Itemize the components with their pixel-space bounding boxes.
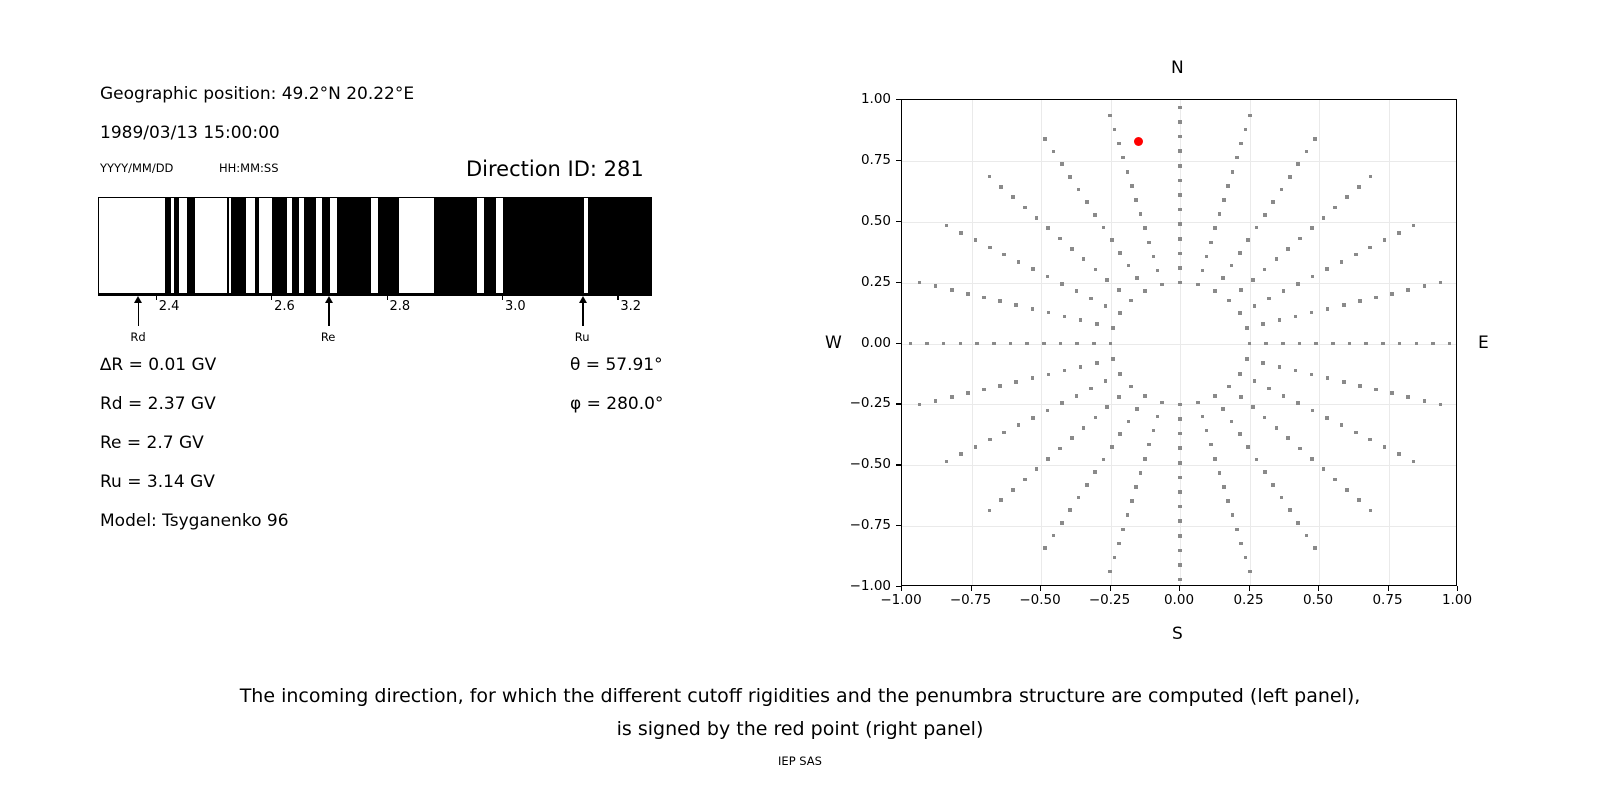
direction-grid-point xyxy=(1296,162,1300,166)
direction-grid-point xyxy=(1354,253,1358,257)
direction-grid-point xyxy=(1239,142,1243,146)
direction-grid-point xyxy=(1369,509,1373,513)
direction-grid-point xyxy=(1060,401,1064,405)
direction-grid-point xyxy=(1075,342,1079,346)
direction-grid-point xyxy=(1322,467,1326,471)
direction-grid-point xyxy=(1383,445,1387,449)
direction-grid-point xyxy=(1068,175,1072,179)
penumbra-forbidden-band xyxy=(187,198,195,293)
scatter-x-tick xyxy=(1249,586,1250,591)
penumbra-forbidden-band xyxy=(292,198,299,293)
direction-grid-point xyxy=(918,403,922,407)
direction-grid-point xyxy=(1288,175,1292,179)
direction-grid-point xyxy=(1255,226,1259,230)
parameter-row: Re = 2.7 GV xyxy=(100,433,204,453)
direction-grid-point xyxy=(1251,278,1255,282)
scatter-y-tick xyxy=(896,282,901,283)
direction-grid-point xyxy=(1325,267,1329,271)
direction-grid-point xyxy=(999,498,1003,502)
direction-grid-point xyxy=(1178,208,1182,212)
direction-grid-point xyxy=(1245,326,1249,330)
scatter-x-tick xyxy=(1457,586,1458,591)
gridline-horizontal xyxy=(902,161,1456,162)
direction-grid-point xyxy=(1094,416,1098,420)
direction-grid-point xyxy=(966,292,970,296)
direction-grid-point xyxy=(1058,237,1062,241)
direction-grid-point xyxy=(1340,260,1344,264)
direction-grid-point xyxy=(1023,206,1027,210)
direction-grid-point xyxy=(1113,556,1117,560)
direction-grid-point xyxy=(1311,409,1315,413)
direction-grid-point xyxy=(1201,269,1205,273)
direction-grid-point xyxy=(1278,365,1282,369)
direction-grid-point xyxy=(1340,423,1344,427)
direction-grid-point xyxy=(1134,198,1138,202)
penumbra-tick-label: 2.6 xyxy=(274,299,295,314)
compass-label-north: N xyxy=(1171,58,1184,78)
direction-grid-point xyxy=(1423,284,1427,288)
penumbra-tick-label: 2.8 xyxy=(390,299,411,314)
cutoff-marker-arrow-ru xyxy=(577,296,588,326)
compass-label-west: W xyxy=(825,333,842,353)
penumbra-forbidden-band xyxy=(503,198,584,293)
direction-grid-point xyxy=(1178,505,1182,509)
cutoff-marker-arrow-rd xyxy=(133,296,144,326)
direction-grid-point xyxy=(1305,534,1309,538)
direction-grid-point xyxy=(1358,299,1362,303)
scatter-y-tick xyxy=(896,586,901,587)
direction-grid-point xyxy=(1126,513,1130,517)
figure-caption: The incoming direction, for which the di… xyxy=(0,680,1600,746)
direction-grid-point xyxy=(1282,289,1286,293)
direction-grid-point xyxy=(1095,361,1099,365)
direction-grid-point xyxy=(1213,226,1217,230)
direction-grid-point xyxy=(1263,416,1267,420)
scatter-y-tick-label: 1.00 xyxy=(831,91,891,107)
direction-grid-point xyxy=(1221,407,1225,411)
direction-grid-point xyxy=(1280,496,1284,500)
direction-grid-point xyxy=(1209,241,1213,245)
direction-grid-point xyxy=(959,342,963,346)
scatter-x-tick xyxy=(1179,586,1180,591)
direction-grid-point xyxy=(1117,142,1121,146)
direction-grid-point xyxy=(1226,184,1230,188)
penumbra-tick-mark xyxy=(502,294,503,300)
direction-grid-point xyxy=(1127,264,1131,268)
direction-grid-point xyxy=(1368,438,1372,442)
scatter-x-tick-label: 1.00 xyxy=(1442,592,1472,608)
direction-grid-point xyxy=(1423,399,1427,403)
direction-grid-point xyxy=(966,391,970,395)
scatter-x-tick-label: 0.25 xyxy=(1233,592,1263,608)
direction-grid-point xyxy=(1406,288,1410,292)
direction-grid-point xyxy=(1264,342,1268,346)
direction-grid-point xyxy=(1342,380,1346,384)
direction-grid-point xyxy=(1296,401,1300,405)
caption-line-2: is signed by the red point (right panel) xyxy=(0,713,1600,746)
direction-grid-point xyxy=(1397,452,1401,456)
scatter-x-tick xyxy=(971,586,972,591)
gridline-vertical xyxy=(1180,100,1181,585)
direction-grid-point xyxy=(1369,175,1373,179)
penumbra-tick-mark xyxy=(617,294,618,300)
scatter-y-tick-label: −0.75 xyxy=(831,517,891,533)
direction-grid-point xyxy=(1310,457,1314,461)
direction-grid-point xyxy=(1079,318,1083,322)
direction-grid-point xyxy=(988,175,992,179)
left-panel: Geographic position: 49.2°N 20.22°E 1989… xyxy=(0,0,760,660)
direction-grid-point xyxy=(1178,266,1182,270)
direction-grid-point xyxy=(1235,156,1239,160)
direction-grid-point xyxy=(1314,342,1318,346)
direction-grid-point xyxy=(1325,416,1329,420)
direction-grid-point xyxy=(1261,361,1265,365)
direction-grid-point xyxy=(1313,546,1317,550)
direction-grid-point xyxy=(1178,281,1182,285)
direction-grid-point xyxy=(1023,478,1027,482)
gridline-horizontal xyxy=(902,465,1456,466)
penumbra-forbidden-band xyxy=(434,198,477,293)
direction-grid-point xyxy=(1160,401,1164,405)
direction-grid-point xyxy=(1130,499,1134,503)
direction-grid-point xyxy=(1111,326,1115,330)
compass-label-south: S xyxy=(1172,624,1183,644)
direction-grid-point xyxy=(1070,436,1074,440)
direction-grid-point xyxy=(1397,231,1401,235)
direction-grid-point xyxy=(1014,303,1018,307)
direction-grid-point xyxy=(1052,150,1056,154)
direction-grid-point xyxy=(1213,457,1217,461)
direction-grid-point xyxy=(1118,251,1122,255)
direction-grid-point xyxy=(1121,528,1125,532)
gridline-vertical xyxy=(1319,100,1320,585)
direction-grid-point xyxy=(1205,255,1209,259)
direction-grid-point xyxy=(1060,521,1064,525)
direction-grid-point xyxy=(1178,432,1182,436)
penumbra-tick-mark xyxy=(387,294,388,300)
direction-grid-point xyxy=(1063,315,1067,319)
direction-grid-point xyxy=(1002,431,1006,435)
direction-grid-point xyxy=(1059,342,1063,346)
caption-line-1: The incoming direction, for which the di… xyxy=(0,680,1600,713)
direction-grid-point xyxy=(1178,106,1182,110)
direction-grid-point xyxy=(999,185,1003,189)
footer-text: IEP SAS xyxy=(0,754,1600,768)
direction-grid-point xyxy=(950,288,954,292)
direction-grid-point xyxy=(1063,369,1067,373)
direction-grid-point xyxy=(1239,542,1243,546)
direction-grid-point xyxy=(1102,226,1106,230)
scatter-y-tick-label: −1.00 xyxy=(831,578,891,594)
direction-grid-point xyxy=(1143,226,1147,230)
date-format-label: YYYY/MM/DD xyxy=(100,161,173,175)
direction-grid-point xyxy=(959,452,963,456)
direction-grid-point xyxy=(1263,470,1267,474)
direction-grid-point xyxy=(1271,200,1275,204)
direction-grid-point xyxy=(1178,193,1182,197)
direction-grid-point xyxy=(1178,549,1182,553)
scatter-x-tick-label: 0.00 xyxy=(1164,592,1194,608)
scatter-y-tick-label: −0.50 xyxy=(831,456,891,472)
parameter-row: Rd = 2.37 GV xyxy=(100,394,216,414)
direction-grid-point xyxy=(1294,315,1298,319)
geographic-position-text: Geographic position: 49.2°N 20.22°E xyxy=(100,84,414,104)
direction-grid-point xyxy=(1043,137,1047,141)
direction-grid-point xyxy=(1025,342,1029,346)
direction-grid-point xyxy=(1245,357,1249,361)
direction-grid-point xyxy=(1448,342,1452,346)
direction-grid-point xyxy=(1052,534,1056,538)
gridline-vertical xyxy=(972,100,973,585)
penumbra-forbidden-band xyxy=(337,198,372,293)
penumbra-forbidden-band xyxy=(174,198,179,293)
parameter-row: ∆R = 0.01 GV xyxy=(100,355,216,375)
scatter-x-tick-label: −0.25 xyxy=(1089,592,1130,608)
direction-grid-point xyxy=(1246,238,1250,242)
scatter-y-tick xyxy=(896,221,901,222)
direction-grid-point xyxy=(1139,212,1143,216)
direction-grid-point xyxy=(1046,275,1050,279)
cutoff-marker-arrow-re xyxy=(323,296,334,326)
direction-grid-point xyxy=(934,399,938,403)
direction-grid-point xyxy=(1093,213,1097,217)
direction-grid-point xyxy=(942,342,946,346)
direction-grid-point xyxy=(1077,188,1081,192)
direction-grid-point xyxy=(1248,114,1252,118)
direction-grid-point xyxy=(1222,198,1226,202)
direction-grid-point xyxy=(1178,120,1182,124)
parameter-row: Model: Tsyganenko 96 xyxy=(100,511,289,531)
direction-grid-point xyxy=(1280,188,1284,192)
direction-grid-point xyxy=(1031,267,1035,271)
direction-grid-point xyxy=(1235,528,1239,532)
direction-grid-point xyxy=(1238,372,1242,376)
direction-grid-point xyxy=(974,445,978,449)
direction-grid-point xyxy=(1046,226,1050,230)
penumbra-tick-label: 3.2 xyxy=(620,299,641,314)
direction-grid-point xyxy=(1178,252,1182,256)
direction-grid-point xyxy=(1244,128,1248,132)
direction-grid-point xyxy=(1104,379,1108,383)
direction-grid-point xyxy=(1296,521,1300,525)
direction-grid-point xyxy=(1178,179,1182,183)
direction-grid-point xyxy=(1238,251,1242,255)
direction-grid-point xyxy=(1313,137,1317,141)
direction-grid-point xyxy=(1263,268,1267,272)
direction-grid-point xyxy=(1238,311,1242,315)
direction-grid-point xyxy=(1077,496,1081,500)
scatter-y-tick-label: 0.75 xyxy=(831,152,891,168)
direction-grid-point xyxy=(1117,395,1121,399)
direction-grid-point xyxy=(1255,458,1259,462)
scatter-x-tick-label: −0.50 xyxy=(1019,592,1060,608)
direction-grid-point xyxy=(1390,292,1394,296)
direction-grid-point xyxy=(1011,195,1015,199)
direction-grid-point xyxy=(1031,376,1035,380)
direction-grid-point xyxy=(1017,260,1021,264)
penumbra-forbidden-band xyxy=(255,198,258,293)
direction-grid-point xyxy=(925,342,929,346)
direction-grid-point xyxy=(1178,417,1182,421)
datetime-text: 1989/03/13 15:00:00 xyxy=(100,123,280,143)
direction-grid-point xyxy=(1089,297,1093,301)
direction-grid-point xyxy=(1431,342,1435,346)
direction-grid-point xyxy=(988,246,992,250)
direction-grid-point xyxy=(1160,283,1164,287)
direction-grid-point xyxy=(1412,460,1416,464)
direction-grid-point xyxy=(1326,307,1330,311)
direction-grid-point xyxy=(1374,388,1378,392)
direction-grid-point xyxy=(1152,429,1156,433)
direction-grid-point xyxy=(1244,556,1248,560)
direction-grid-point xyxy=(988,509,992,513)
direction-grid-point xyxy=(1108,570,1112,574)
direction-grid-point xyxy=(1238,432,1242,436)
direction-grid-point xyxy=(1104,304,1108,308)
direction-grid-point xyxy=(1305,150,1309,154)
direction-grid-point xyxy=(1129,385,1133,389)
direction-grid-point xyxy=(1298,447,1302,451)
direction-grid-point xyxy=(1267,297,1271,301)
penumbra-forbidden-band xyxy=(304,198,316,293)
direction-grid-point xyxy=(1079,365,1083,369)
direction-grid-point xyxy=(1117,288,1121,292)
direction-grid-point xyxy=(1031,307,1035,311)
scatter-y-tick xyxy=(896,343,901,344)
direction-grid-point xyxy=(998,384,1002,388)
scatter-x-tick xyxy=(1318,586,1319,591)
direction-grid-point xyxy=(1298,237,1302,241)
penumbra-forbidden-band xyxy=(322,198,330,293)
direction-grid-point xyxy=(1085,200,1089,204)
direction-grid-point xyxy=(1102,458,1106,462)
cutoff-marker-label-rd: Rd xyxy=(130,330,145,344)
direction-grid-point xyxy=(1333,478,1337,482)
direction-grid-point xyxy=(988,438,992,442)
direction-grid-point xyxy=(1322,216,1326,220)
direction-grid-point xyxy=(1130,184,1134,188)
direction-grid-point xyxy=(1178,446,1182,450)
direction-grid-point xyxy=(1213,394,1217,398)
direction-grid-point xyxy=(1230,264,1234,268)
direction-grid-point xyxy=(1110,445,1114,449)
direction-grid-point xyxy=(1111,357,1115,361)
compass-label-east: E xyxy=(1478,333,1489,353)
penumbra-tick-mark xyxy=(156,294,157,300)
direction-grid-point xyxy=(1412,224,1416,228)
direction-grid-point xyxy=(1156,269,1160,273)
direction-grid-point xyxy=(1227,299,1231,303)
direction-grid-point xyxy=(1118,372,1122,376)
direction-grid-point xyxy=(1227,385,1231,389)
direction-grid-point xyxy=(1129,299,1133,303)
direction-grid-point xyxy=(1310,373,1314,377)
direction-grid-point xyxy=(1246,445,1250,449)
direction-grid-point xyxy=(1178,563,1182,567)
direction-grid-point xyxy=(1143,457,1147,461)
scatter-x-tick xyxy=(1388,586,1389,591)
direction-grid-point xyxy=(1082,257,1086,261)
direction-grid-point xyxy=(1108,114,1112,118)
direction-grid-point xyxy=(1271,483,1275,487)
direction-grid-point xyxy=(1139,471,1143,475)
direction-grid-point xyxy=(1127,420,1131,424)
direction-grid-point xyxy=(1439,403,1443,407)
direction-grid-point xyxy=(1178,222,1182,226)
direction-grid-point xyxy=(1011,488,1015,492)
scatter-y-tick-label: 0.50 xyxy=(831,213,891,229)
scatter-y-tick-label: 0.25 xyxy=(831,274,891,290)
penumbra-forbidden-band xyxy=(231,198,246,293)
direction-grid-point xyxy=(1068,508,1072,512)
direction-grid-point xyxy=(1311,275,1315,279)
direction-grid-point xyxy=(1094,268,1098,272)
direction-grid-point xyxy=(945,460,949,464)
direction-grid-point xyxy=(950,395,954,399)
direction-grid-point xyxy=(1047,373,1051,377)
direction-grid-point xyxy=(1118,311,1122,315)
direction-grid-point xyxy=(1135,276,1139,280)
direction-grid-point xyxy=(1298,342,1302,346)
cutoff-marker-label-ru: Ru xyxy=(575,330,590,344)
direction-grid-point xyxy=(1213,289,1217,293)
direction-grid-point xyxy=(1156,415,1160,419)
direction-grid-point xyxy=(1178,135,1182,139)
direction-grid-point xyxy=(1196,401,1200,405)
direction-grid-point xyxy=(1331,342,1335,346)
scatter-y-tick xyxy=(896,99,901,100)
direction-grid-point xyxy=(1178,490,1182,494)
direction-grid-point xyxy=(1082,426,1086,430)
direction-grid-point xyxy=(1110,238,1114,242)
direction-grid-point xyxy=(1178,519,1182,523)
direction-grid-point xyxy=(1043,546,1047,550)
direction-grid-point xyxy=(1047,311,1051,315)
direction-grid-point xyxy=(1218,212,1222,216)
scatter-y-tick xyxy=(896,464,901,465)
direction-grid-point xyxy=(982,388,986,392)
direction-grid-point xyxy=(1118,432,1122,436)
direction-grid-point xyxy=(1296,282,1300,286)
direction-grid-point xyxy=(1095,322,1099,326)
direction-grid-point xyxy=(992,342,996,346)
direction-grid-point xyxy=(1251,405,1255,409)
penumbra-tick-label: 2.4 xyxy=(159,299,180,314)
parameter-row: Ru = 3.14 GV xyxy=(100,472,215,492)
direction-grid-point xyxy=(1333,206,1337,210)
direction-grid-point xyxy=(909,342,913,346)
direction-grid-point xyxy=(1248,342,1252,346)
direction-grid-point xyxy=(975,342,979,346)
direction-grid-point xyxy=(1070,247,1074,251)
direction-grid-point xyxy=(1058,447,1062,451)
direction-grid-point xyxy=(1226,499,1230,503)
direction-grid-point xyxy=(1002,253,1006,257)
direction-grid-point xyxy=(945,224,949,228)
scatter-y-tick xyxy=(896,160,901,161)
direction-grid-point xyxy=(1231,513,1235,517)
scatter-x-tick xyxy=(1110,586,1111,591)
direction-grid-point xyxy=(1147,241,1151,245)
direction-grid-point xyxy=(1178,461,1182,465)
penumbra-tick-label: 3.0 xyxy=(505,299,526,314)
direction-grid-point xyxy=(1093,470,1097,474)
direction-grid-point xyxy=(1201,415,1205,419)
direction-grid-point xyxy=(1345,488,1349,492)
direction-grid-point xyxy=(1196,283,1200,287)
direction-grid-point xyxy=(1092,342,1096,346)
direction-grid-point xyxy=(1218,471,1222,475)
